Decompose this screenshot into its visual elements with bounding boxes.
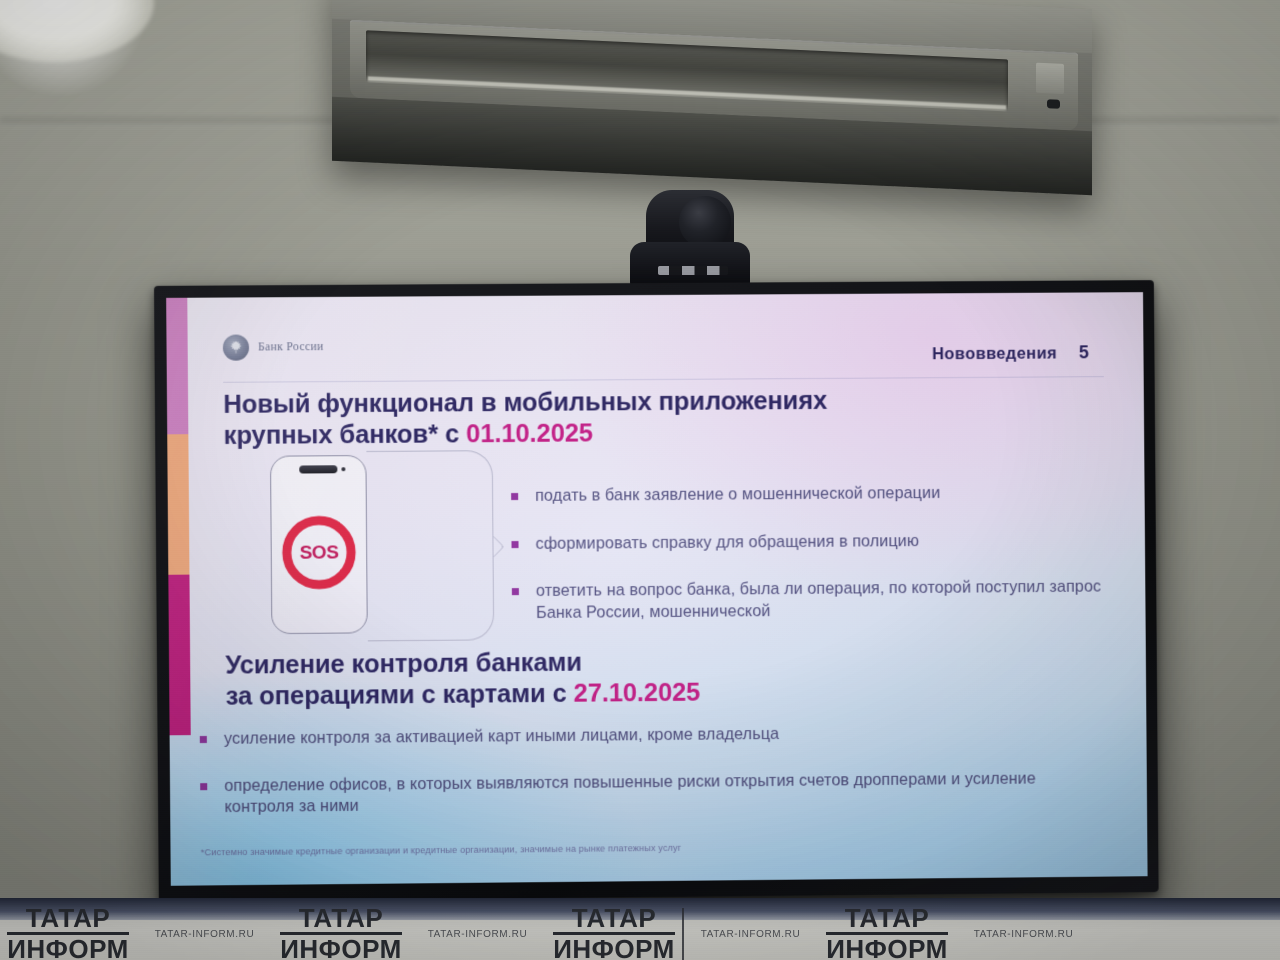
photo-vignette [0,0,1280,960]
room-scene: Банк России Нововведения 5 Новый функцио… [0,0,1280,960]
